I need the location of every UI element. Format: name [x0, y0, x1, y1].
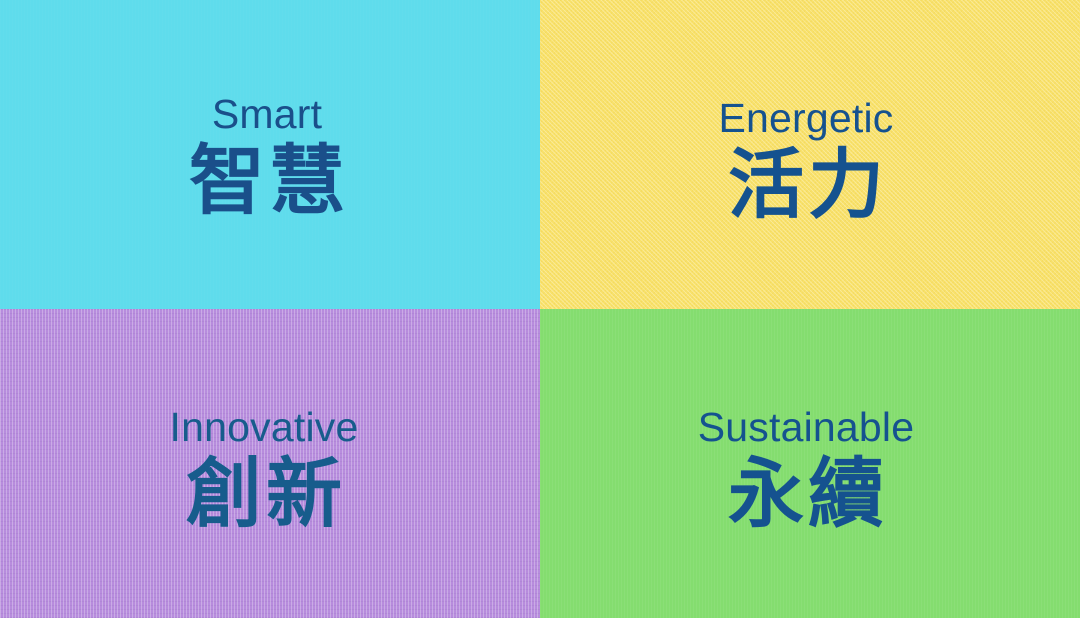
value-label-en-energetic: Energetic	[718, 97, 893, 140]
value-label-zh-smart: 智慧	[185, 138, 349, 223]
value-card-innovative[interactable]: Innovative 創新	[0, 309, 540, 618]
value-label-en-smart: Smart	[212, 93, 322, 136]
value-card-sustainable-content: Sustainable 永續	[698, 406, 914, 536]
value-card-energetic[interactable]: Energetic 活力	[540, 0, 1080, 309]
value-label-zh-sustainable: 永續	[724, 451, 888, 536]
value-card-energetic-content: Energetic 活力	[718, 97, 893, 227]
value-label-en-sustainable: Sustainable	[698, 406, 914, 449]
value-label-zh-innovative: 創新	[182, 451, 346, 536]
value-card-innovative-content: Innovative 創新	[170, 406, 359, 536]
brand-values-grid: Smart 智慧 Energetic 活力 Innovative 創新 Sust…	[0, 0, 1080, 618]
value-card-smart-content: Smart 智慧	[185, 93, 349, 223]
value-label-en-innovative: Innovative	[170, 406, 359, 449]
value-label-zh-energetic: 活力	[724, 142, 888, 227]
value-card-sustainable[interactable]: Sustainable 永續	[540, 309, 1080, 618]
value-card-smart[interactable]: Smart 智慧	[0, 0, 540, 309]
